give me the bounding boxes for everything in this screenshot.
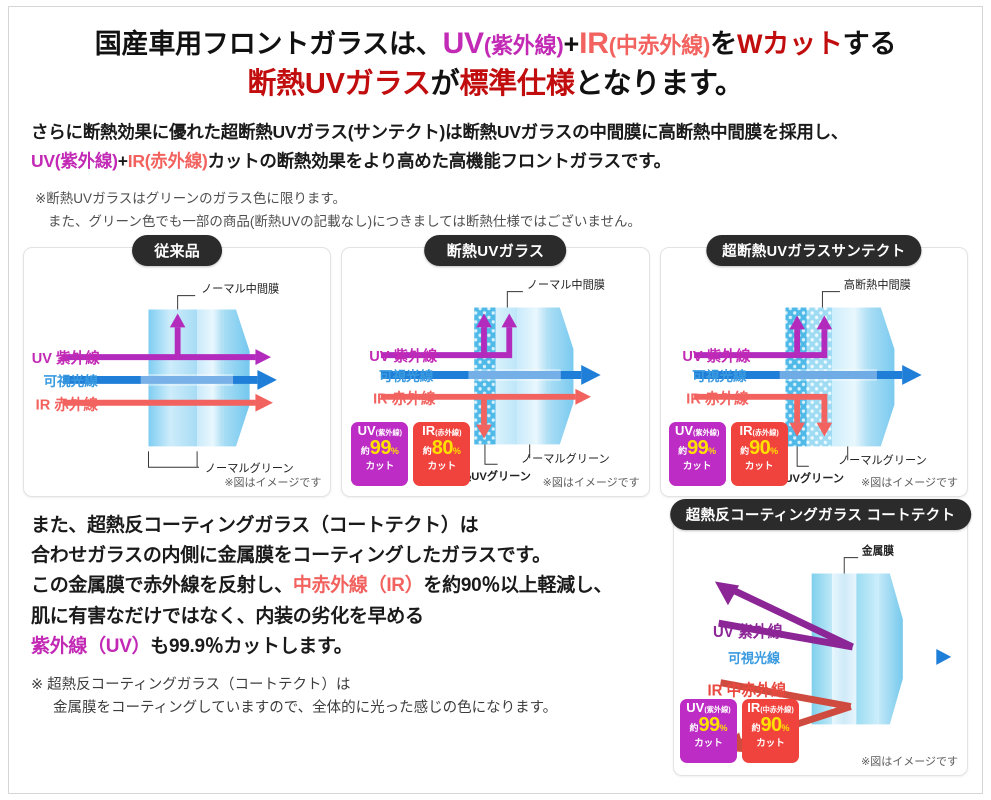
headline-ga: が (431, 68, 460, 100)
coattect-line-3: この金属膜で赤外線を反射し、中赤外線（IR）を約90％以上軽減し、 (31, 571, 663, 601)
label-interlayer: 高断熱中間膜 (843, 278, 910, 292)
badge-ir-value: 約80% (413, 438, 470, 461)
top-note: ※断熱UVガラスはグリーンのガラス色に限ります。 また、グリーン色でも一部の商品… (35, 187, 960, 233)
badge-ir-approx: 約 (423, 446, 432, 456)
coattect-line-5b: も99.9％カットします。 (150, 636, 352, 657)
badge-uv-cut: UV(紫外線) 約99% カット (680, 699, 737, 763)
badge-ir-sub: (赤外線) (752, 428, 778, 437)
page-title: 国産車用フロントガラスは、UV(紫外線)+IR(中赤外線)をWカットする 断熱U… (9, 7, 982, 102)
bottom-section: また、超熱反コーティングガラス（コートテクト）は 合わせガラスの内側に金属膜をコ… (23, 511, 968, 776)
label-uv: UV 紫外線 (713, 622, 783, 642)
cut-badges-coattect: UV(紫外線) 約99% カット IR(中赤外線) 約90% カット (680, 699, 799, 763)
label-interlayer: ノーマル中間膜 (201, 283, 279, 296)
coattect-uv-highlight: 紫外線（UV） (31, 636, 150, 657)
badge-ir-cut-label: カット (731, 461, 788, 473)
coattect-line-3c: を約90％以上軽減し、 (423, 575, 612, 596)
label-ir: IR 中赤外線 (707, 681, 786, 701)
label-uv: UV 紫外線 (32, 349, 100, 367)
bottom-note-line-1: ※ 超熱反コーティングガラス（コートテクト）は (31, 677, 351, 693)
badge-ir-number: 90 (760, 714, 781, 736)
badge-ir-percent: % (782, 723, 790, 733)
badge-uv-number: 99 (687, 437, 708, 459)
label-visible: 可視光線 (43, 373, 98, 389)
label-uv: UV 紫外線 (370, 347, 438, 365)
bottom-note: ※ 超熱反コーティングガラス（コートテクト）は 金属膜をコーティングしていますの… (31, 674, 663, 720)
badge-ir-value: 約90% (731, 438, 788, 461)
label-ir: IR 赤外線 (373, 390, 436, 408)
badge-ir-sub: (中赤外線) (760, 705, 794, 714)
lead-line-2-rest: カットの断熱効果をより高めた高機能フロントガラスです。 (208, 151, 671, 171)
headline-ir-sub: (中赤外線) (609, 33, 710, 58)
headline-suru: する (843, 29, 897, 59)
coattect-line-4: 肌に有害なだけではなく、内装の劣化を早める (31, 602, 663, 632)
coattect-line-1: また、超熱反コーティングガラス（コートテクト）は (31, 511, 663, 541)
panel-suntect: 超断熱UVガラスサンテクト (660, 247, 968, 497)
badge-ir-main: IR (747, 700, 760, 715)
label-visible: 可視光線 (728, 650, 781, 667)
badge-uv-sub: (紫外線) (376, 428, 402, 437)
headline-product-name: 断熱UVガラス (247, 68, 430, 100)
label-normal-green: ノーマルグリーン (521, 452, 610, 466)
label-uv: UV 紫外線 (682, 347, 750, 365)
badge-uv-value: 約99% (669, 438, 726, 461)
badge-ir-cut-label: カット (413, 461, 470, 473)
label-ir: IR 赤外線 (686, 390, 749, 408)
cut-badges-uvcut: UV(紫外線) 約99% カット IR(赤外線) 約80% カット (351, 422, 470, 486)
top-note-line-2: また、グリーン色でも一部の商品(断熱UVの記載なし)につきましては断熱仕様ではご… (35, 210, 960, 233)
image-note-conventional: ※図はイメージです (224, 474, 321, 490)
panel-uvcut: 断熱UVガラス (341, 247, 649, 497)
headline-ir-label: IR (579, 27, 609, 60)
diagram-conventional: ノーマル中間膜 ノーマルグリーン UV 紫外線 可視光線 IR 赤外線 (24, 248, 330, 496)
badge-uv-main: UV (686, 700, 704, 715)
headline-uv-sub: (紫外線) (484, 33, 564, 58)
headline-uv-label: UV (443, 27, 484, 60)
image-note-suntect: ※図はイメージです (861, 474, 958, 490)
badge-uv-cut: UV(紫外線) 約99% カット (669, 422, 726, 486)
panel-coattect: 超熱反コーティングガラス コートテクト (673, 511, 968, 776)
label-normal-green: ノーマルグリーン (838, 454, 927, 468)
badge-uv-sub: (紫外線) (704, 705, 730, 714)
headline-wcut: Wカット (737, 29, 843, 59)
headline-seg-text: 国産車用フロントガラスは、 (95, 29, 443, 59)
badge-ir-value: 約90% (742, 715, 799, 738)
top-note-line-1: ※断熱UVガラスはグリーンのガラス色に限ります。 (35, 191, 346, 206)
badge-uv-cut-label: カット (669, 461, 726, 473)
label-visible: 可視光線 (379, 368, 434, 384)
badge-uv-percent: % (391, 446, 399, 456)
panel-conventional: 従来品 (23, 247, 331, 497)
cut-badges-suntect: UV(紫外線) 約99% カット IR(赤外線) 約90% カット (669, 422, 788, 486)
badge-uv-value: 約99% (351, 438, 408, 461)
headline-wo: を (710, 29, 737, 59)
headline-standard-spec: 標準仕様 (459, 68, 574, 100)
label-ir: IR 赤外線 (36, 396, 99, 414)
lead-line-2: UV(紫外線)+IR(赤外線)カットの断熱効果をより高めた高機能フロントガラスで… (31, 147, 960, 175)
lead-uv-label: UV(紫外線) (31, 151, 118, 171)
badge-uv-value: 約99% (680, 715, 737, 738)
lead-line-1: さらに断熱効果に優れた超断熱UVガラス(サンテクト)は断熱UVガラスの中間膜に高… (31, 118, 960, 146)
badge-uv-cut-label: カット (351, 461, 408, 473)
lead-paragraph: さらに断熱効果に優れた超断熱UVガラス(サンテクト)は断熱UVガラスの中間膜に高… (31, 118, 960, 175)
badge-uv-approx: 約 (361, 446, 370, 456)
lead-ir-label: IR(赤外線) (128, 151, 208, 171)
badge-ir-cut: IR(赤外線) 約90% カット (731, 422, 788, 486)
infographic-page: 国産車用フロントガラスは、UV(紫外線)+IR(中赤外線)をWカットする 断熱U… (8, 6, 983, 794)
badge-ir-cut: IR(中赤外線) 約90% カット (742, 699, 799, 763)
badge-ir-sub: (赤外線) (435, 428, 461, 437)
badge-ir-approx: 約 (740, 446, 749, 456)
badge-ir-main: IR (422, 423, 435, 438)
badge-uv-number: 99 (370, 437, 391, 459)
badge-uv-cut-label: カット (680, 738, 737, 750)
label-metal-film: 金属膜 (861, 544, 894, 558)
badge-ir-main: IR (739, 423, 752, 438)
badge-ir-number: 90 (749, 437, 770, 459)
badge-uv-approx: 約 (678, 446, 687, 456)
coattect-ir-highlight: 中赤外線（IR） (293, 575, 424, 596)
badge-ir-percent: % (770, 446, 778, 456)
badge-uv-cut: UV(紫外線) 約99% カット (351, 422, 408, 486)
label-interlayer: ノーマル中間膜 (527, 279, 605, 292)
headline-line-1: 国産車用フロントガラスは、UV(紫外線)+IR(中赤外線)をWカットする (9, 25, 982, 63)
coattect-description: また、超熱反コーティングガラス（コートテクト）は 合わせガラスの内側に金属膜をコ… (23, 511, 663, 776)
badge-uv-sub: (紫外線) (693, 428, 719, 437)
headline-tail: となります。 (575, 68, 744, 100)
badge-ir-percent: % (453, 446, 461, 456)
coattect-line-2: 合わせガラスの内側に金属膜をコーティングしたガラスです。 (31, 541, 663, 571)
label-visible: 可視光線 (692, 368, 747, 384)
badge-uv-percent: % (708, 446, 716, 456)
comparison-panels: 従来品 (23, 247, 968, 497)
badge-ir-number: 80 (432, 437, 453, 459)
badge-ir-cut-label: カット (742, 738, 799, 750)
coattect-line-5: 紫外線（UV）も99.9％カットします。 (31, 632, 663, 662)
badge-uv-number: 99 (698, 714, 719, 736)
headline-line-2: 断熱UVガラスが標準仕様となります。 (9, 66, 982, 103)
badge-uv-main: UV (675, 423, 693, 438)
badge-uv-percent: % (720, 723, 728, 733)
image-note-coattect: ※図はイメージです (861, 753, 958, 769)
image-note-uvcut: ※図はイメージです (543, 474, 640, 490)
badge-ir-cut: IR(赤外線) 約80% カット (413, 422, 470, 486)
lead-plus: + (118, 151, 128, 171)
coattect-line-3a: この金属膜で赤外線を反射し、 (31, 575, 293, 596)
badge-uv-main: UV (358, 423, 376, 438)
bottom-note-line-2: 金属膜をコーティングしていますので、全体的に光った感じの色になります。 (31, 697, 663, 720)
headline-plus: + (564, 29, 580, 59)
